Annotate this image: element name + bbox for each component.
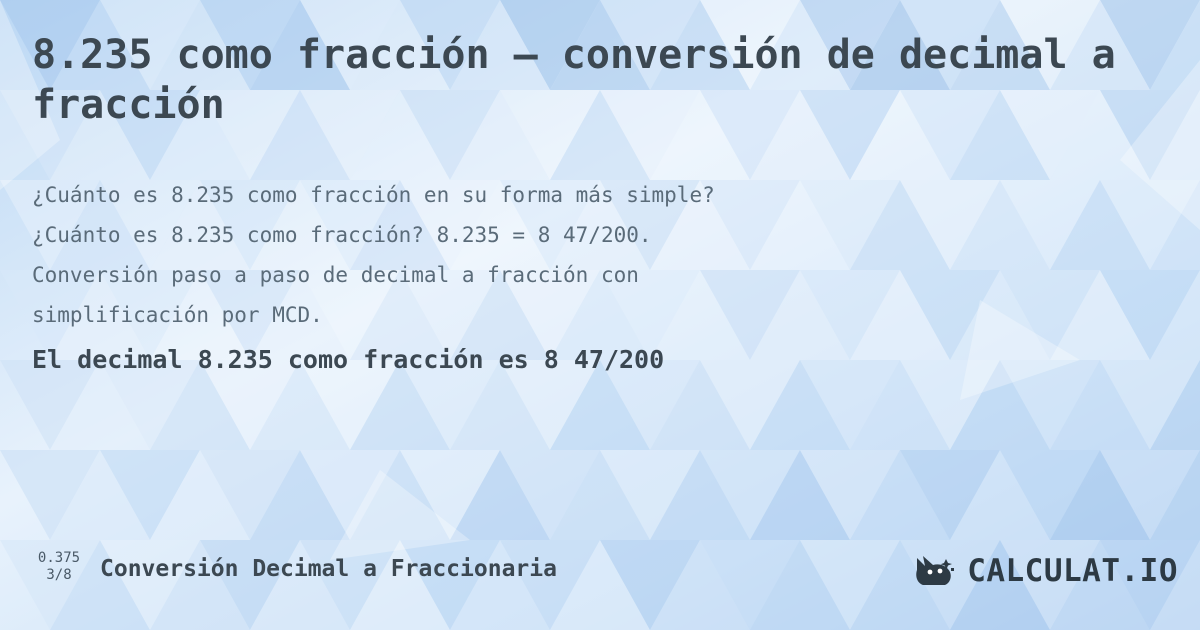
page-root: 8.235 como fracción – conversión de deci… bbox=[0, 0, 1200, 630]
answer-statement: El decimal 8.235 como fracción es 8 47/2… bbox=[32, 345, 664, 374]
description-line-2: ¿Cuánto es 8.235 como fracción? 8.235 = … bbox=[32, 215, 1092, 255]
page-title: 8.235 como fracción – conversión de deci… bbox=[32, 30, 1122, 130]
content-area: 8.235 como fracción – conversión de deci… bbox=[0, 0, 1200, 630]
cat-logo-icon bbox=[913, 554, 959, 588]
brand-logo[interactable]: CALCULAT.IO bbox=[913, 554, 1178, 588]
description-line-4: simplificación por MCD. bbox=[32, 295, 1092, 335]
brand-name: CALCULAT.IO bbox=[967, 554, 1178, 588]
description-line-3: Conversión paso a paso de decimal a frac… bbox=[32, 255, 1092, 295]
fraction-decimal-value: 0.375 bbox=[28, 550, 90, 567]
footer-section-title: Conversión Decimal a Fraccionaria bbox=[100, 556, 557, 582]
fraction-fraction-value: 3/8 bbox=[28, 567, 90, 584]
description-line-1: ¿Cuánto es 8.235 como fracción en su for… bbox=[32, 175, 1092, 215]
footer-bar: 0.375 3/8 Conversión Decimal a Fracciona… bbox=[0, 540, 1200, 630]
page-description: ¿Cuánto es 8.235 como fracción en su for… bbox=[32, 175, 1092, 335]
fraction-example-icon: 0.375 3/8 bbox=[28, 550, 90, 584]
